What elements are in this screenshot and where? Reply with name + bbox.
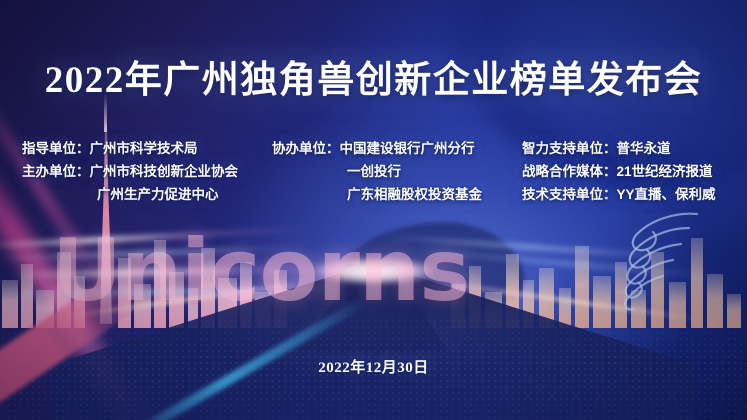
event-date: 2022年12月30日 <box>0 356 747 377</box>
light-streak <box>10 264 370 279</box>
light-streak <box>380 235 680 260</box>
org-line: 指导单位： 广州市科学技术局 <box>22 140 272 158</box>
horizon-glow <box>114 225 634 405</box>
org-label: 协办单位： <box>272 140 340 158</box>
org-line: 技术支持单位： YY直播、保利威 <box>522 186 732 204</box>
organizations-left-column: 指导单位： 广州市科学技术局 主办单位： 广州市科技创新企业协会 广州生产力促进… <box>22 140 272 204</box>
organizations-middle-column: 协办单位： 中国建设银行广州分行 一创投行 广东相融股权投资基金 <box>272 140 522 204</box>
org-line: 广东相融股权投资基金 <box>272 186 522 204</box>
pink-diagonal-band <box>0 269 144 420</box>
org-value: 21世纪经济报道 <box>617 163 713 181</box>
org-value: 广东相融股权投资基金 <box>347 186 482 204</box>
org-value: 一创投行 <box>347 163 401 181</box>
road-edge-left <box>46 283 294 322</box>
light-streak <box>0 287 330 297</box>
road-edge-right <box>453 283 701 322</box>
org-value: 广州市科技创新企业协会 <box>90 163 239 181</box>
org-line: 一创投行 <box>272 163 522 181</box>
organizations-right-column: 智力支持单位： 普华永道 战略合作媒体： 21世纪经济报道 技术支持单位： YY… <box>522 140 732 204</box>
org-label: 指导单位： <box>22 140 90 158</box>
page-title: 2022年广州独角兽创新企业榜单发布会 <box>0 49 747 103</box>
light-streak <box>400 248 729 280</box>
org-label: 智力支持单位： <box>522 140 617 158</box>
road-to-horizon <box>54 268 694 420</box>
horizon-light-core <box>314 258 434 284</box>
unicorns-watermark: Unicorns <box>52 228 469 314</box>
org-value: YY直播、保利威 <box>617 186 716 204</box>
org-line: 协办单位： 中国建设银行广州分行 <box>272 140 522 158</box>
org-line: 广州生产力促进中心 <box>22 186 272 204</box>
light-streak <box>0 226 310 248</box>
organizations-block: 指导单位： 广州市科学技术局 主办单位： 广州市科技创新企业协会 广州生产力促进… <box>22 140 732 204</box>
org-value: 中国建设银行广州分行 <box>340 140 475 158</box>
org-value: 普华永道 <box>617 140 671 158</box>
org-value: 广州生产力促进中心 <box>97 186 219 204</box>
org-line: 智力支持单位： 普华永道 <box>522 140 732 158</box>
org-line: 战略合作媒体： 21世纪经济报道 <box>522 163 732 181</box>
city-skyline-left <box>0 218 300 328</box>
unicorn-hill-silhouette <box>335 222 525 317</box>
org-line: 主办单位： 广州市科技创新企业协会 <box>22 163 272 181</box>
city-skyline-right <box>447 218 747 328</box>
org-value: 广州市科学技术局 <box>90 140 198 158</box>
event-poster: Unicorns 2022年广州独角兽创新企业榜单发布会 指导单位： 广州市科学… <box>0 0 747 420</box>
org-label: 主办单位： <box>22 163 90 181</box>
unicorn-mane-flourish-icon <box>589 208 709 318</box>
road-curve <box>274 262 474 352</box>
org-label: 战略合作媒体： <box>522 163 617 181</box>
light-streak <box>0 247 290 260</box>
org-label: 技术支持单位： <box>522 186 617 204</box>
